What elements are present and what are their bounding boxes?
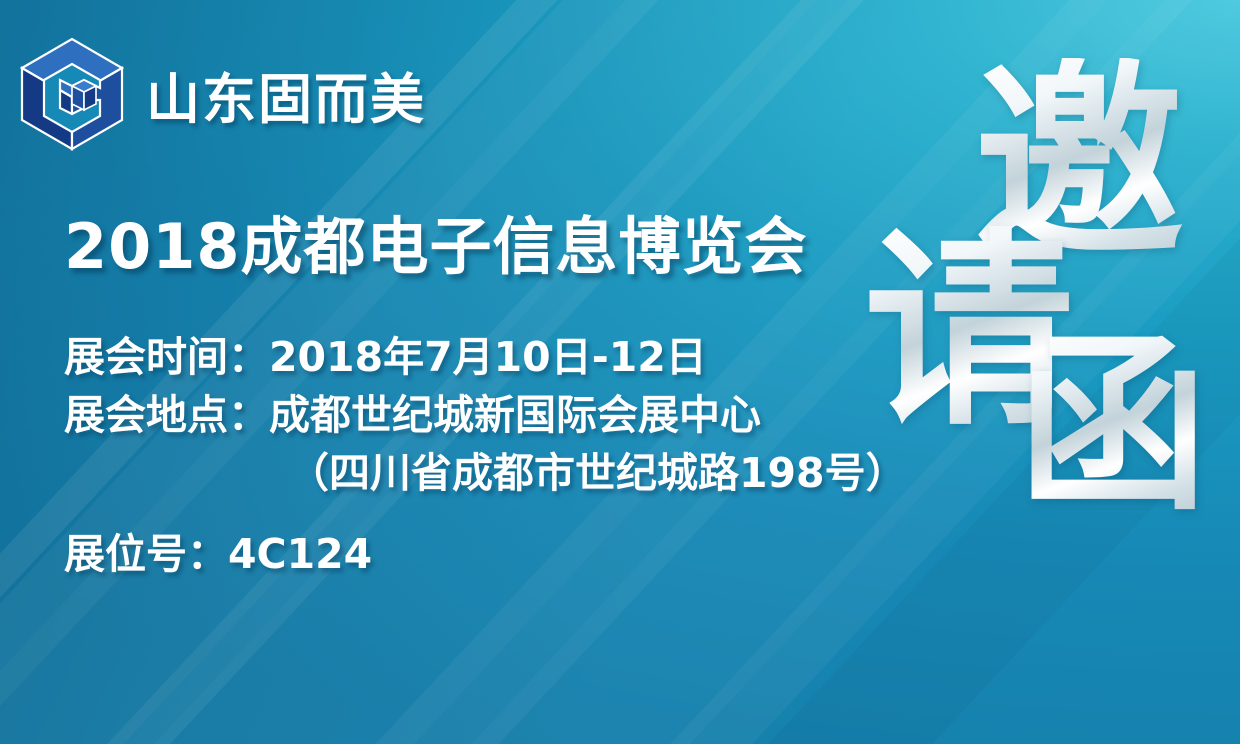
event-address-line: （四川省成都市世纪城路198号）	[64, 444, 907, 502]
calligraphy-char-han: 函	[1018, 330, 1208, 520]
event-info-block: 2018成都电子信息博览会 展会时间：2018年7月10日-12日 展会地点：成…	[64, 196, 907, 583]
invitation-banner: 邀 请 函 山东固而美 2018成都电子信息博览会 展会时间：2018年7月10…	[0, 0, 1240, 744]
company-name: 山东固而美	[146, 55, 426, 134]
calligraphy-invitation: 邀 请 函	[862, 58, 1222, 618]
event-venue-line: 展会地点：成都世纪城新国际会展中心	[64, 386, 907, 444]
event-date-line: 展会时间：2018年7月10日-12日	[64, 328, 907, 386]
hexagon-g-logo-icon	[16, 36, 128, 152]
event-title: 2018成都电子信息博览会	[64, 196, 907, 286]
calligraphy-char-yao: 邀	[974, 58, 1184, 268]
brand-header: 山东固而美	[16, 36, 426, 152]
event-booth-line: 展位号：4C124	[64, 525, 907, 583]
